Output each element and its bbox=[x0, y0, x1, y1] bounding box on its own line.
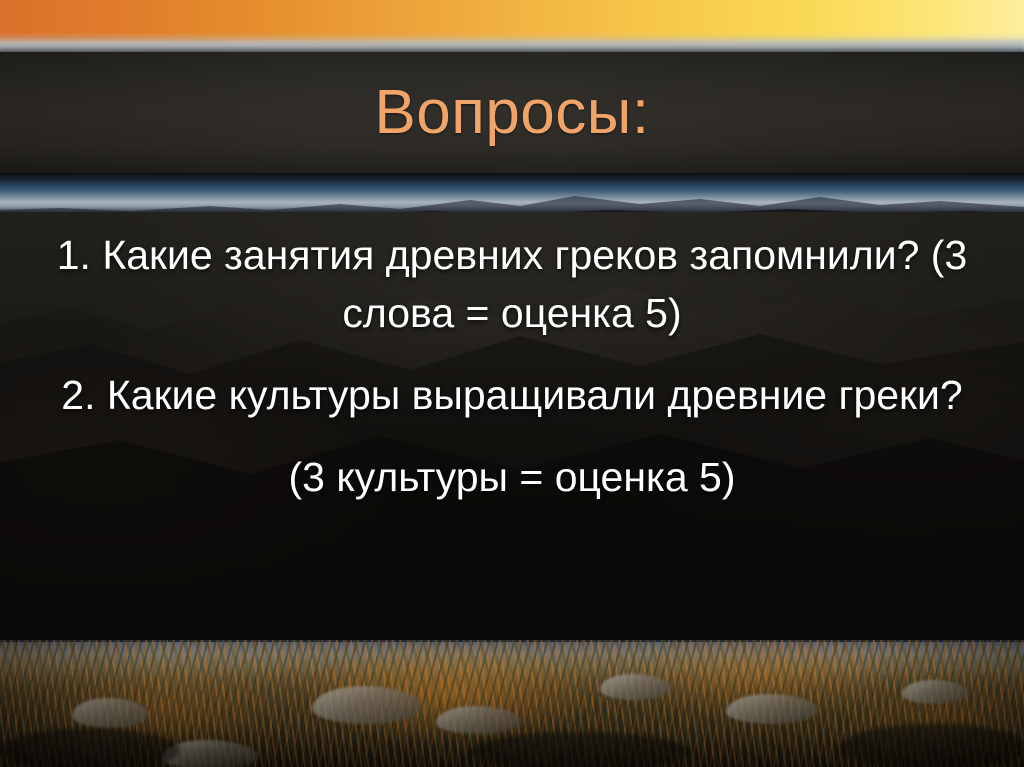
photo-top-edge-line bbox=[0, 640, 1024, 642]
rock-4 bbox=[600, 674, 670, 700]
shadow-patch-2 bbox=[470, 732, 690, 767]
rock-3 bbox=[436, 706, 520, 734]
shadow-patch-1 bbox=[0, 728, 180, 767]
rock-6 bbox=[902, 680, 968, 704]
presentation-slide: Вопросы: 1. Какие занятия древних греков… bbox=[0, 0, 1024, 767]
shadow-patch-3 bbox=[840, 724, 1024, 767]
question-line-2: 2. Какие культуры выращивали древние гре… bbox=[0, 342, 1024, 424]
question-line-3: (3 культуры = оценка 5) bbox=[0, 424, 1024, 506]
slide-title: Вопросы: bbox=[0, 52, 1024, 173]
rock-1 bbox=[72, 698, 148, 728]
question-line-1: 1. Какие занятия древних греков запомнил… bbox=[0, 222, 1024, 342]
sky-haze-band bbox=[0, 38, 1024, 52]
foreground-grass-photo bbox=[0, 640, 1024, 767]
rock-2 bbox=[312, 686, 422, 724]
rock-5 bbox=[726, 694, 818, 724]
horizon-band bbox=[0, 173, 1024, 215]
slide-body-text: 1. Какие занятия древних греков запомнил… bbox=[0, 212, 1024, 640]
